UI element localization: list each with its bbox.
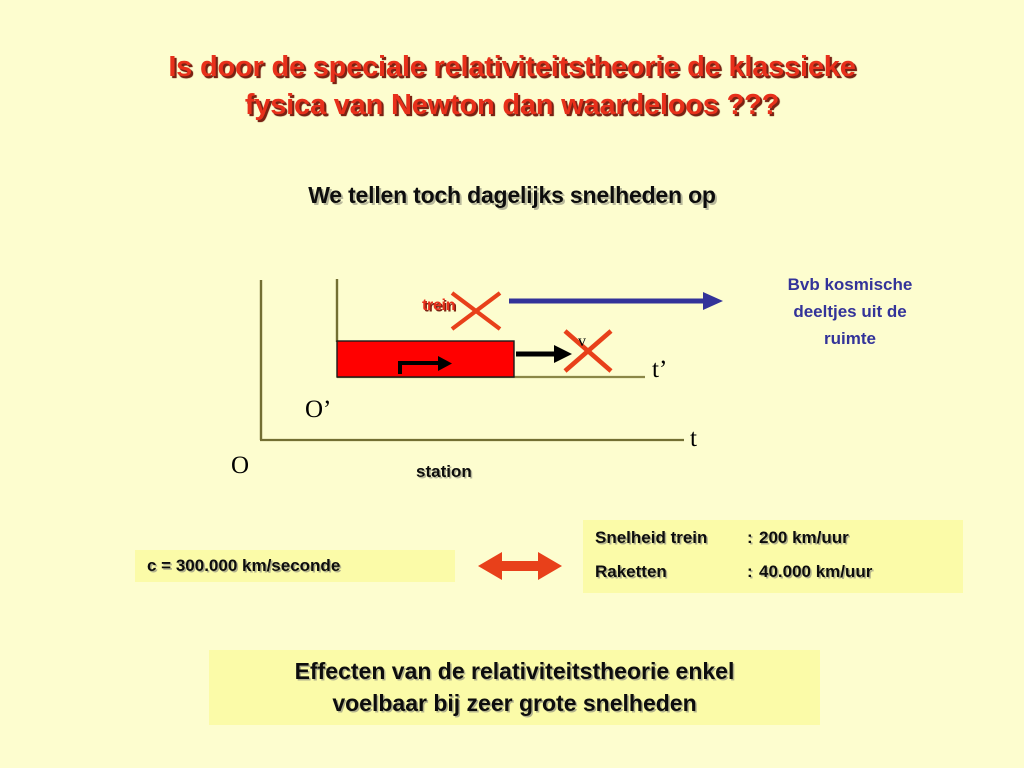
double-arrow-icon (478, 548, 562, 584)
station-label: station (416, 462, 472, 482)
train-label: trein (422, 297, 455, 315)
speeds-row-train-separator: : (747, 529, 759, 546)
light-speed-box: c = 300.000 km/seconde (135, 550, 455, 582)
page-title: Is door de speciale relativiteitstheorie… (92, 48, 932, 125)
velocity-arrowhead (554, 345, 572, 363)
speeds-row-train: Snelheid trein : 200 km/uur (595, 529, 963, 546)
subtitle: We tellen toch dagelijks snelheden op (152, 182, 872, 209)
train-rectangle (337, 341, 514, 377)
speeds-row-rockets-separator: : (747, 563, 759, 580)
slide-canvas: Is door de speciale relativiteitstheorie… (0, 0, 1024, 768)
origin-prime-label: O’ (305, 396, 331, 424)
inner-train-arrow (400, 363, 440, 374)
speeds-row-train-value: 200 km/uur (759, 529, 849, 546)
cosmic-particles-note: Bvb kosmische deeltjes uit de ruimte (730, 271, 970, 353)
cosmic-arrowhead (703, 292, 723, 310)
origin-label: O (231, 452, 249, 480)
inner-train-arrowhead (438, 356, 452, 371)
t-prime-axis-label: t’ (652, 356, 667, 384)
speeds-row-rockets-label: Raketten (595, 563, 747, 580)
speeds-box: Snelheid trein : 200 km/uur Raketten : 4… (583, 520, 963, 593)
speeds-row-rockets: Raketten : 40.000 km/uur (595, 563, 963, 580)
conclusion-box: Effecten van de relativiteitstheorie enk… (209, 650, 820, 725)
velocity-label: v (578, 333, 586, 351)
speeds-row-train-label: Snelheid trein (595, 529, 747, 546)
cross-out-trein-icon (452, 293, 500, 329)
t-axis-label: t (690, 425, 697, 453)
speeds-row-rockets-value: 40.000 km/uur (759, 563, 872, 580)
cross-out-v-icon (565, 331, 611, 371)
light-speed-text: c = 300.000 km/seconde (147, 556, 340, 576)
